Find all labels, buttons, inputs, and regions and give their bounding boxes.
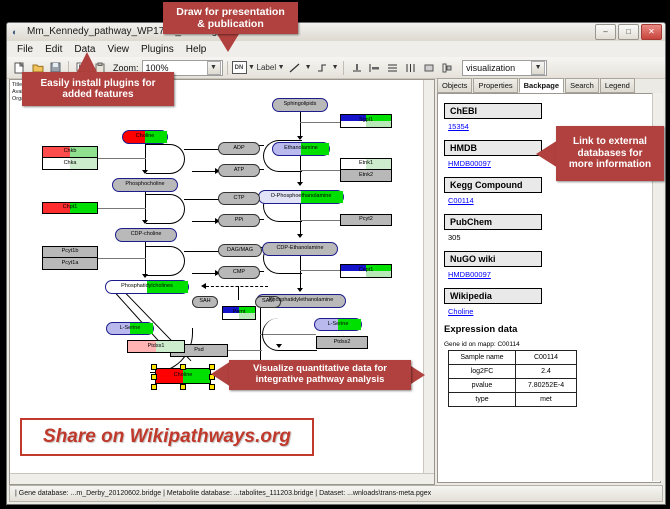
tab-search[interactable]: Search bbox=[565, 78, 599, 93]
node-etnk1[interactable]: Etnk1 bbox=[340, 158, 392, 170]
pathway-icon: ◐ bbox=[12, 26, 24, 38]
edge-chpt1 bbox=[98, 208, 146, 209]
status-text: | Gene database: ...m_Derby_20120602.bri… bbox=[10, 490, 431, 497]
distribute-vertical-icon[interactable] bbox=[384, 59, 401, 76]
db-label-chebi: ChEBI bbox=[444, 103, 542, 119]
arrowhead bbox=[297, 182, 303, 186]
arrowhead bbox=[297, 234, 303, 238]
visualization-combobox[interactable]: visualization ▼ bbox=[462, 60, 547, 76]
tab-properties[interactable]: Properties bbox=[473, 78, 517, 93]
arrowhead bbox=[297, 288, 303, 292]
node-chka[interactable]: Chka bbox=[42, 158, 98, 170]
node-dag-mag[interactable]: DAG/MAG bbox=[218, 244, 262, 257]
menu-bar: File Edit Data View Plugins Help bbox=[7, 41, 666, 58]
node-etnk2[interactable]: Etnk2 bbox=[340, 170, 392, 182]
node-ptdss1[interactable]: Ptdss1 bbox=[127, 340, 185, 353]
edge-cept1 bbox=[300, 270, 340, 271]
callout-arrow-down-draw bbox=[217, 34, 239, 52]
arrowhead bbox=[201, 283, 206, 289]
connector-icon[interactable] bbox=[313, 59, 330, 76]
node-pcyt2[interactable]: Pcyt2 bbox=[340, 214, 392, 226]
menu-view[interactable]: View bbox=[101, 43, 135, 56]
screenshot-root: ◐ Mm_Kennedy_pathway_WP1771_45176.gpml –… bbox=[0, 0, 670, 509]
menu-edit[interactable]: Edit bbox=[39, 43, 68, 56]
node-pcyt1a[interactable]: Pcyt1a bbox=[42, 258, 98, 270]
resize-handle-w[interactable] bbox=[151, 374, 157, 380]
node-cdp-ethanolamine[interactable]: CDP-Ethanolamine bbox=[262, 242, 338, 256]
callout-line-2: integrative pathway analysis bbox=[256, 375, 385, 386]
node-sah[interactable]: SAH bbox=[192, 296, 218, 308]
callout-line-2: added features bbox=[62, 89, 133, 101]
distribute-horizontal-icon[interactable] bbox=[402, 59, 419, 76]
node-atp[interactable]: ATP bbox=[218, 164, 260, 177]
resize-handle-s[interactable] bbox=[180, 384, 186, 390]
db-link-kegg[interactable]: C00114 bbox=[448, 196, 648, 205]
node-choline-selected[interactable]: Choline bbox=[155, 368, 211, 384]
title-bar: ◐ Mm_Kennedy_pathway_WP1771_45176.gpml –… bbox=[7, 23, 665, 42]
edge-psd bbox=[228, 350, 262, 351]
callout-visualize-data: Visualize quantitative data for integrat… bbox=[229, 360, 411, 390]
minimize-button[interactable]: – bbox=[595, 24, 616, 40]
status-bar: | Gene database: ...m_Derby_20120602.bri… bbox=[9, 485, 663, 502]
menu-file[interactable]: File bbox=[11, 43, 39, 56]
chevron-down-icon-2[interactable]: ▼ bbox=[531, 61, 545, 75]
edge-pemt-dashed bbox=[206, 286, 268, 287]
line-icon[interactable] bbox=[286, 59, 303, 76]
edge-sphingo-etn bbox=[300, 112, 301, 138]
callout-line-3: more information bbox=[569, 159, 651, 171]
edge-pcyt2 bbox=[300, 220, 340, 221]
node-chpt1[interactable]: Chpt1 bbox=[42, 202, 98, 214]
edge-etnk bbox=[300, 170, 340, 171]
db-link-wikipedia[interactable]: Choline bbox=[448, 307, 648, 316]
cell-key: pvalue bbox=[449, 379, 516, 393]
tab-legend[interactable]: Legend bbox=[600, 78, 635, 93]
group-icon[interactable] bbox=[420, 59, 437, 76]
visualization-value: visualization bbox=[466, 63, 515, 73]
db-link-nugo[interactable]: HMDB00097 bbox=[448, 270, 648, 279]
edge-to-dag bbox=[184, 251, 220, 252]
callout-draw-for-publication: Draw for presentation & publication bbox=[163, 2, 298, 34]
connector-dropdown-icon[interactable]: ▼ bbox=[331, 64, 339, 71]
db-label-nugo: NuGO wiki bbox=[444, 251, 542, 267]
resize-handle-n[interactable] bbox=[180, 364, 186, 370]
line-dropdown-icon[interactable]: ▼ bbox=[304, 64, 312, 71]
tab-backpage[interactable]: Backpage bbox=[519, 78, 564, 93]
node-sphingolipids[interactable]: Sphingolipids bbox=[272, 98, 328, 112]
edge-chk bbox=[98, 158, 146, 159]
node-phosphocholine[interactable]: Phosphocholine bbox=[112, 178, 178, 192]
db-label-pubchem: PubChem bbox=[444, 214, 542, 230]
node-sgpl1[interactable]: Sgpl1 bbox=[340, 114, 392, 128]
zoom-label: Zoom: bbox=[113, 63, 139, 73]
callout-line-1: Easily install plugins for bbox=[40, 78, 155, 90]
node-pcyt1b[interactable]: Pcyt1b bbox=[42, 246, 98, 258]
toolbar-separator-2 bbox=[227, 61, 228, 75]
cell-key: log2FC bbox=[449, 365, 516, 379]
node-ctp[interactable]: CTP bbox=[218, 192, 260, 205]
expression-data-heading: Expression data bbox=[444, 324, 648, 335]
callout-share-wikipathways: Share on Wikipathways.org bbox=[20, 418, 314, 456]
align-top-icon[interactable] bbox=[348, 59, 365, 76]
node-cmp[interactable]: CMP bbox=[218, 266, 260, 279]
node-o-phosphoethanolamine[interactable]: O-Phosphoethanolamine bbox=[258, 190, 344, 204]
callout-link-to-databases: Link to external databases for more info… bbox=[556, 126, 664, 181]
node-choline[interactable]: Choline bbox=[122, 130, 168, 144]
curve-adp-atp bbox=[146, 144, 185, 174]
canvas-horizontal-scrollbar[interactable] bbox=[10, 473, 434, 484]
toolbar-separator-3 bbox=[343, 61, 344, 75]
node-chkb[interactable]: Chkb bbox=[42, 146, 98, 158]
callout-line-1: Link to external bbox=[573, 136, 647, 148]
callout-install-plugins: Easily install plugins for added feature… bbox=[22, 72, 174, 106]
db-label-hmdb: HMDB bbox=[444, 140, 542, 156]
edge-sgpl1 bbox=[300, 122, 340, 123]
order-icon[interactable] bbox=[438, 59, 455, 76]
node-cdp-choline[interactable]: CDP-choline bbox=[115, 228, 177, 242]
table-row: log2FC 2.4 bbox=[449, 365, 577, 379]
window-buttons: – □ ✕ bbox=[595, 24, 662, 40]
label-dropdown-icon[interactable]: ▼ bbox=[277, 64, 285, 71]
cell-value: 7.80252E-4 bbox=[516, 379, 577, 393]
callout-line-1: Draw for presentation bbox=[176, 6, 285, 18]
table-row: Sample name C00114 bbox=[449, 351, 577, 365]
edge-to-adp bbox=[184, 149, 220, 150]
table-row: type met bbox=[449, 393, 577, 407]
callout-line-2: databases for bbox=[577, 148, 642, 160]
datanode-icon[interactable]: DN bbox=[232, 61, 247, 74]
callout-arrow-left-link bbox=[536, 140, 558, 168]
panel-tabs: Objects Properties Backpage Search Legen… bbox=[437, 79, 636, 93]
node-phosphatidylcholines[interactable]: Phosphatidylcholines bbox=[105, 280, 189, 294]
resize-handle-sw[interactable] bbox=[151, 384, 157, 390]
table-row: pvalue 7.80252E-4 bbox=[449, 379, 577, 393]
cell-value: C00114 bbox=[516, 351, 577, 365]
edge-pemt-stub bbox=[238, 286, 239, 300]
node-ethanolamine[interactable]: Ethanolamine bbox=[272, 142, 330, 156]
label-tool[interactable]: Label bbox=[257, 63, 277, 72]
cell-value: 2.4 bbox=[516, 365, 577, 379]
node-ptdss2[interactable]: Ptdss2 bbox=[316, 336, 368, 349]
curve-dag-cmp bbox=[146, 246, 185, 276]
db-label-kegg: Kegg Compound bbox=[444, 177, 542, 193]
gene-id-on-mapp: Gene id on mapp: C00114 bbox=[444, 341, 648, 348]
node-ppi[interactable]: PPi bbox=[218, 214, 260, 227]
zoom-value: 100% bbox=[146, 63, 169, 73]
cell-key: Sample name bbox=[449, 351, 516, 365]
menu-help[interactable]: Help bbox=[180, 43, 213, 56]
tab-objects[interactable]: Objects bbox=[437, 78, 472, 93]
cell-value: met bbox=[516, 393, 577, 407]
curve-ctp-ppi bbox=[146, 194, 185, 224]
chevron-down-icon[interactable]: ▼ bbox=[207, 61, 221, 75]
db-label-wikipedia: Wikipedia bbox=[444, 288, 542, 304]
node-cept1[interactable]: Cept1 bbox=[340, 264, 392, 278]
node-pemt[interactable]: Pemt bbox=[222, 306, 256, 320]
align-left-icon[interactable] bbox=[366, 59, 383, 76]
canvas-vertical-scrollbar[interactable] bbox=[423, 80, 434, 484]
cell-key: type bbox=[449, 393, 516, 407]
edge-to-ctp bbox=[184, 199, 220, 200]
menu-plugins[interactable]: Plugins bbox=[135, 43, 180, 56]
edge-pcyt1 bbox=[98, 258, 146, 259]
datanode-dropdown-icon[interactable]: ▼ bbox=[248, 64, 256, 71]
close-button[interactable]: ✕ bbox=[641, 24, 662, 40]
curve-serine-etn bbox=[262, 318, 317, 351]
expression-table: Sample name C00114 log2FC 2.4 pvalue 7.8… bbox=[448, 350, 577, 407]
db-value-pubchem: 305 bbox=[448, 233, 648, 242]
node-adp[interactable]: ADP bbox=[218, 142, 260, 155]
callout-line-2: & publication bbox=[197, 18, 264, 30]
node-l-serine-right[interactable]: L-Serine bbox=[314, 318, 362, 331]
arrowhead bbox=[276, 344, 282, 348]
node-l-serine-left[interactable]: L-Serine bbox=[106, 322, 154, 335]
callout-arrow-right-visualize bbox=[411, 366, 425, 384]
maximize-button[interactable]: □ bbox=[618, 24, 639, 40]
callout-arrow-up-plugins bbox=[76, 52, 98, 74]
resize-handle-nw[interactable] bbox=[151, 364, 157, 370]
callout-arrow-left-visualize bbox=[211, 361, 231, 387]
